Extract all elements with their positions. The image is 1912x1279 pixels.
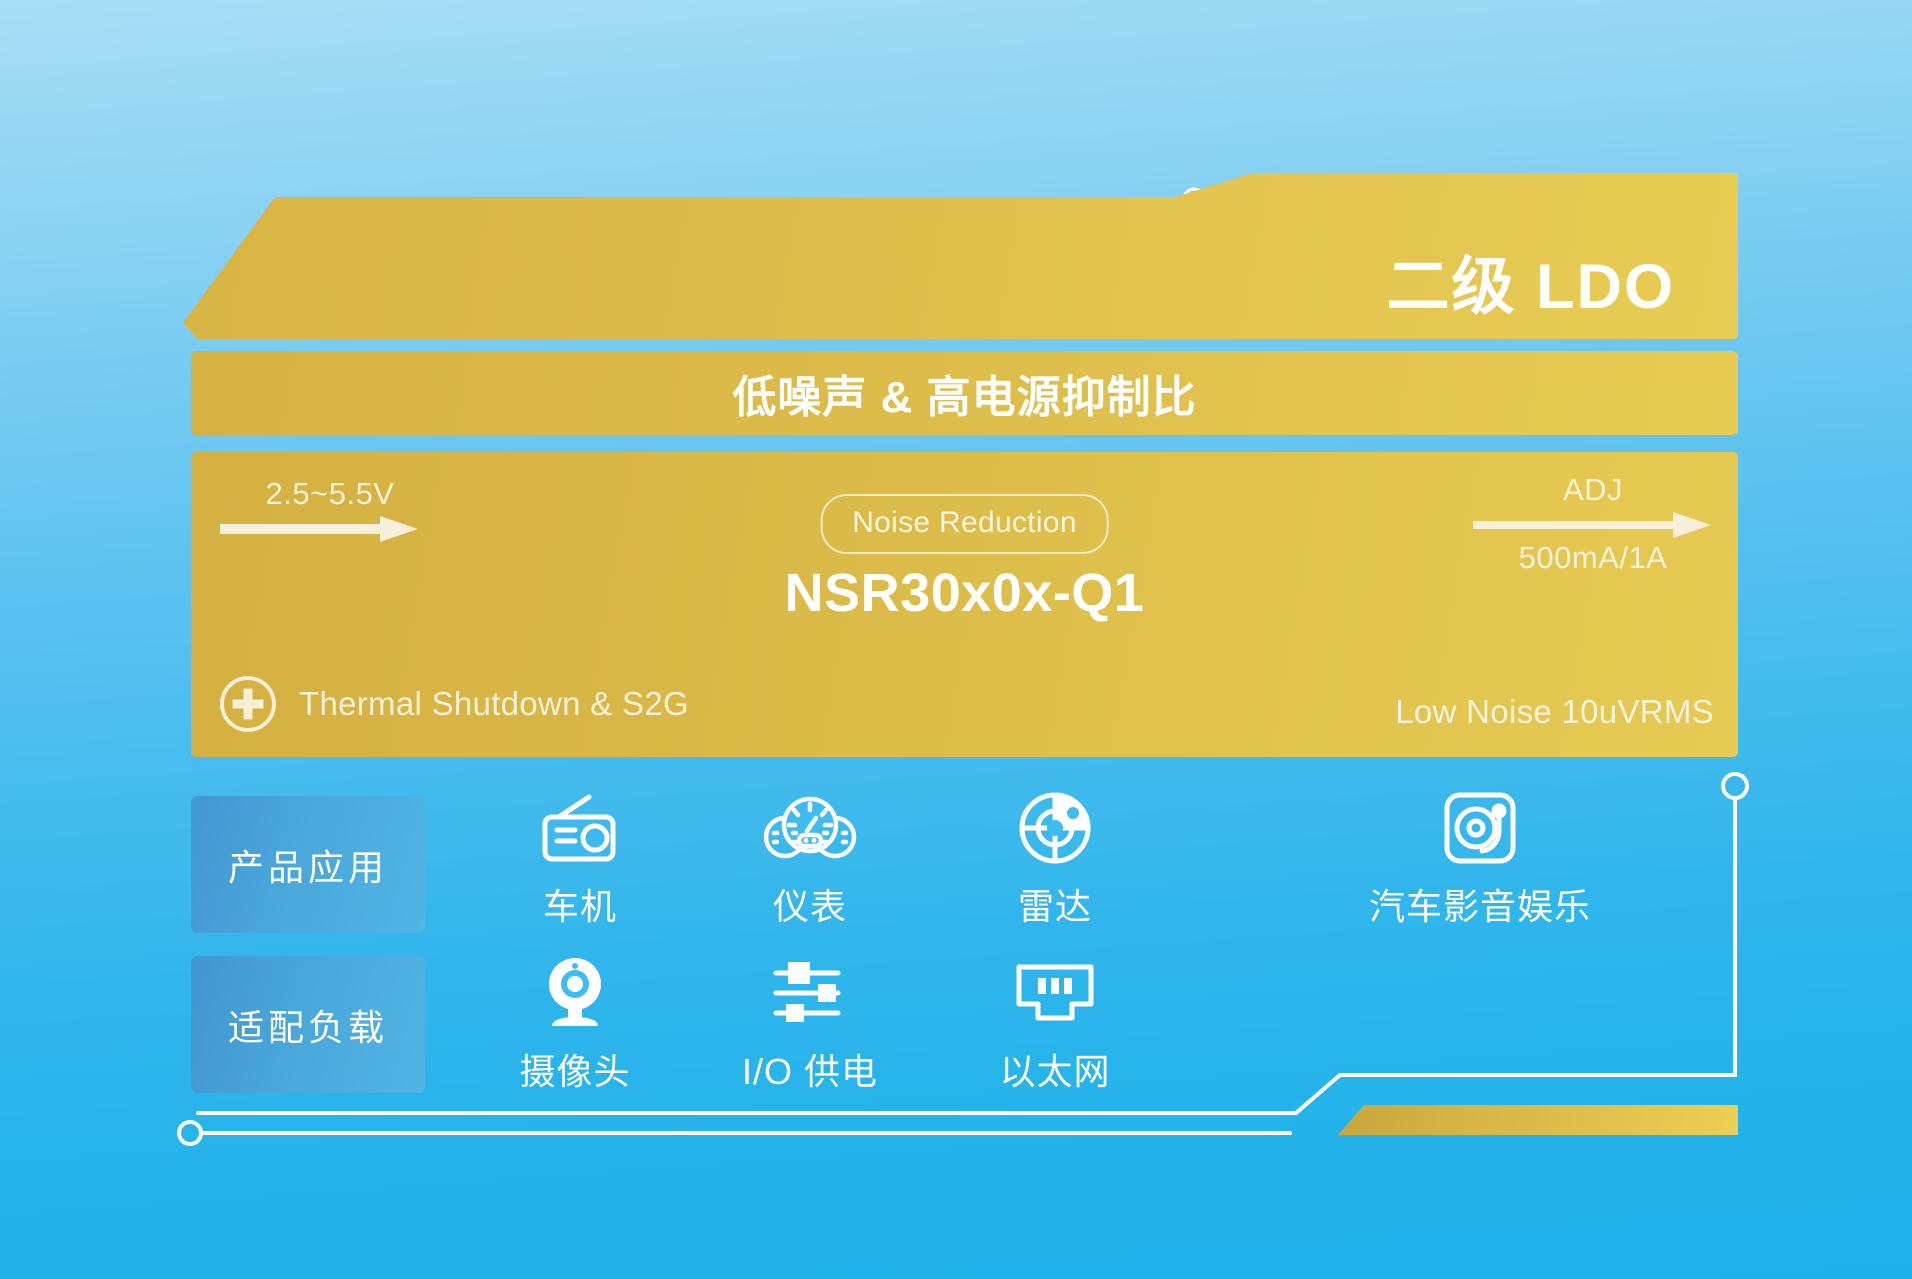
thermal-feature-label: Thermal Shutdown & S2G	[299, 685, 689, 723]
radio-icon	[541, 790, 619, 866]
category-chip-loads: 适配负载	[191, 956, 425, 1093]
load-item-io-power: I/O 供电	[700, 955, 920, 1095]
input-voltage-label: 2.5~5.5V	[220, 476, 440, 512]
application-item-instrument-cluster: 仪表	[700, 790, 920, 930]
noise-reduction-badge: Noise Reduction	[820, 494, 1109, 554]
webcam-icon	[540, 955, 610, 1031]
device-spec-block: 2.5~5.5V ADJ 500mA/1A Noise Reduction NS…	[191, 452, 1738, 757]
subtitle-bar: 低噪声 & 高电源抑制比	[191, 351, 1738, 435]
circle-plus-icon	[219, 675, 277, 733]
category-chip-loads-label: 适配负载	[228, 999, 388, 1051]
output-adj-label: ADJ	[1473, 472, 1713, 508]
trace-node-right	[1723, 774, 1747, 798]
part-number: NSR30x0x-Q1	[785, 562, 1145, 624]
ethernet-port-icon	[1014, 955, 1096, 1031]
thermal-feature-group: Thermal Shutdown & S2G	[219, 675, 689, 733]
category-chip-applications: 产品应用	[191, 796, 425, 933]
infographic-canvas: 二级 LDO 低噪声 & 高电源抑制比 2.5~5.5V ADJ 500mA/1…	[0, 0, 1912, 1279]
load-item-io-power-label: I/O 供电	[742, 1043, 878, 1095]
arrow-right-icon	[1473, 510, 1713, 540]
arrow-right-icon	[220, 514, 420, 544]
load-item-ethernet-label: 以太网	[999, 1043, 1110, 1095]
application-item-car-head-unit-label: 车机	[543, 878, 617, 930]
sliders-icon	[772, 955, 848, 1031]
output-arrow-group: ADJ 500mA/1A	[1473, 472, 1713, 576]
output-arrow-icon-wrap	[1473, 510, 1713, 540]
load-item-ethernet: 以太网	[945, 955, 1165, 1095]
application-item-instrument-cluster-label: 仪表	[773, 878, 847, 930]
application-item-infotainment: 汽车影音娱乐	[1335, 790, 1625, 930]
application-item-infotainment-label: 汽车影音娱乐	[1369, 878, 1591, 930]
subtitle-text: 低噪声 & 高电源抑制比	[732, 361, 1196, 425]
output-current-label: 500mA/1A	[1473, 540, 1713, 576]
application-item-radar-label: 雷达	[1018, 878, 1092, 930]
trace-node-bottom-left	[179, 1122, 201, 1144]
category-chip-applications-label: 产品应用	[228, 839, 388, 891]
gauge-cluster-icon	[763, 790, 857, 866]
radar-icon	[1018, 790, 1092, 866]
hero-banner: 二级 LDO	[183, 173, 1738, 339]
application-item-car-head-unit: 车机	[470, 790, 690, 930]
application-item-radar: 雷达	[945, 790, 1165, 930]
gold-accent-bar	[1338, 1105, 1738, 1135]
page-title: 二级 LDO	[1387, 256, 1676, 319]
load-item-camera-label: 摄像头	[519, 1043, 630, 1095]
low-noise-feature-label: Low Noise 10uVRMS	[1395, 693, 1714, 731]
input-arrow-group: 2.5~5.5V	[220, 476, 440, 544]
input-arrow-icon-wrap	[220, 514, 440, 544]
turntable-icon	[1443, 790, 1517, 866]
load-item-camera: 摄像头	[465, 955, 685, 1095]
